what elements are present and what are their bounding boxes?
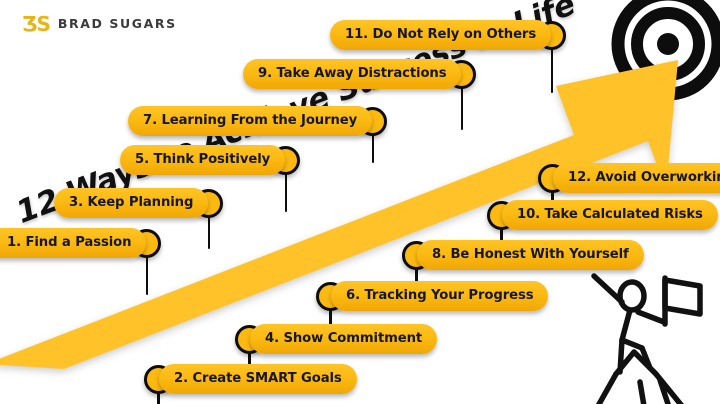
pin-label: 4. Show Commitment (265, 332, 422, 345)
pin-tag[interactable]: 3. Keep Planning (54, 188, 208, 218)
pin-needle-icon (461, 86, 464, 130)
pin-item-9[interactable]: 9. Take Away Distractions (243, 59, 476, 89)
pin-label: 5. Think Positively (135, 153, 270, 166)
pin-item-10[interactable]: 10. Take Calculated Risks (487, 200, 718, 230)
brand-logo[interactable]: ƷSBRAD SUGARS (22, 14, 177, 34)
brand-monogram-icon: ƷS (22, 14, 50, 34)
pin-tag[interactable]: 8. Be Honest With Yourself (417, 240, 644, 270)
pin-label: 9. Take Away Distractions (258, 67, 446, 80)
brand-name: BRAD SUGARS (58, 18, 177, 31)
pin-label: 2. Create SMART Goals (174, 372, 342, 385)
pin-tag[interactable]: 9. Take Away Distractions (243, 59, 461, 89)
pin-tag[interactable]: 12. Avoid Overworking (553, 163, 720, 193)
pin-tag[interactable]: 10. Take Calculated Risks (502, 200, 718, 230)
pin-needle-icon (146, 255, 149, 295)
pin-item-8[interactable]: 8. Be Honest With Yourself (402, 240, 644, 270)
pin-tag[interactable]: 1. Find a Passion (0, 228, 146, 258)
pin-needle-icon (157, 391, 160, 404)
pin-item-3[interactable]: 3. Keep Planning (54, 188, 223, 218)
pin-item-6[interactable]: 6. Tracking Your Progress (316, 281, 548, 311)
pin-label: 10. Take Calculated Risks (517, 208, 703, 221)
pin-tag[interactable]: 2. Create SMART Goals (159, 364, 357, 394)
pin-tag[interactable]: 7. Learning From the Journey (128, 106, 372, 136)
pin-item-7[interactable]: 7. Learning From the Journey (128, 106, 387, 136)
pin-label: 1. Find a Passion (7, 236, 131, 249)
infographic-canvas: 12 Ways to Achieve Success in Life (0, 0, 720, 404)
pin-label: 11. Do Not Rely on Others (345, 28, 536, 41)
pin-item-2[interactable]: 2. Create SMART Goals (144, 364, 357, 394)
pin-tag[interactable]: 4. Show Commitment (250, 324, 437, 354)
mountain-climber-flag-icon (564, 256, 714, 404)
pin-needle-icon (208, 215, 211, 249)
pin-item-4[interactable]: 4. Show Commitment (235, 324, 437, 354)
pin-item-5[interactable]: 5. Think Positively (120, 145, 300, 175)
pin-tag[interactable]: 11. Do Not Rely on Others (330, 20, 551, 50)
pin-needle-icon (372, 133, 375, 163)
pin-item-11[interactable]: 11. Do Not Rely on Others (330, 20, 566, 50)
pin-item-1[interactable]: 1. Find a Passion (0, 228, 161, 258)
pin-needle-icon (551, 47, 554, 93)
pin-label: 8. Be Honest With Yourself (432, 248, 629, 261)
pin-label: 3. Keep Planning (69, 196, 193, 209)
bullseye-target-icon (606, 0, 720, 110)
pin-needle-icon (285, 172, 288, 212)
pin-label: 7. Learning From the Journey (143, 114, 357, 127)
pin-tag[interactable]: 6. Tracking Your Progress (331, 281, 548, 311)
pin-item-12[interactable]: 12. Avoid Overworking (538, 163, 720, 193)
pin-label: 12. Avoid Overworking (568, 171, 720, 184)
pin-tag[interactable]: 5. Think Positively (120, 145, 285, 175)
pin-label: 6. Tracking Your Progress (346, 289, 533, 302)
